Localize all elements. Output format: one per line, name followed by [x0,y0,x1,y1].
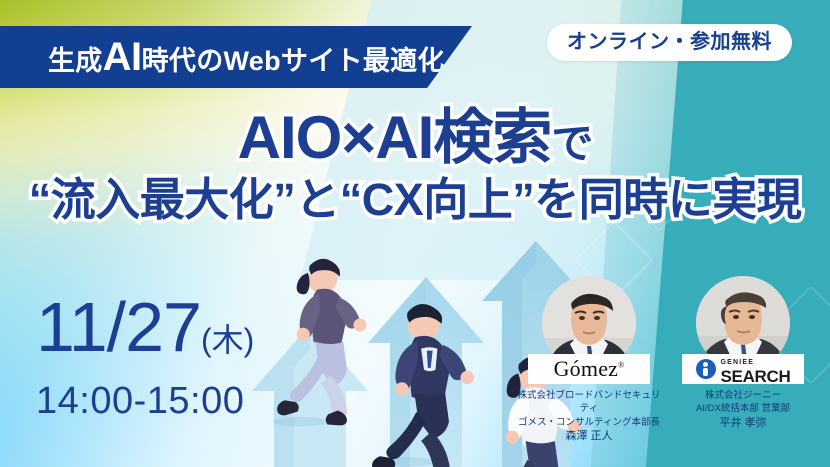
page-title: AIO×AI検索で “流入最大化”と“CX向上”を同時に実現 [0,108,830,222]
arrow-shape-1 [252,325,368,467]
speaker-organization: 株式会社ジーニー [670,389,816,402]
speaker-card: GENIEE SEARCH 株式会社ジーニー AI/DX統括本部 営業部 平井 … [670,276,816,445]
speaker-list: Gómez® 株式会社ブロードバンドセキュリティ ゴメス・コンサルティング本部長… [516,276,816,445]
headline-line-1: AIO×AI検索で [0,108,830,168]
geniee-search-logo-inner: GENIEE SEARCH [696,352,791,386]
speaker-role: AI/DX統括本部 営業部 [670,402,816,415]
gomez-logo-text: Gómez® [554,358,625,380]
speaker-meta: 株式会社ブロードバンドセキュリティ ゴメス・コンサルティング本部長 森澤 正人 [516,389,662,445]
event-schedule: 11/27(木) 14:00-15:00 [36,292,254,420]
geniee-logo-bottom-text: SEARCH [721,367,791,386]
speaker-name: 森澤 正人 [516,429,662,445]
event-date: 11/27(木) [36,292,254,362]
speaker-card: Gómez® 株式会社ブロードバンドセキュリティ ゴメス・コンサルティング本部長… [516,276,662,445]
ribbon-emphasis: AI [103,35,142,79]
geniee-wordmark: GENIEE SEARCH [721,352,791,386]
ribbon-prefix: 生成 [48,46,103,76]
webinar-poster: 生成AI時代のWebサイト最適化 オンライン・参加無料 AIO×AI検索で “流… [0,0,830,467]
geniee-circle-icon [696,359,716,379]
topic-ribbon: 生成AI時代のWebサイト最適化 [0,26,472,88]
ribbon-label: 生成AI時代のWebサイト最適化 [0,37,445,77]
free-online-badge: オンライン・参加無料 [547,24,792,61]
event-time: 14:00-15:00 [36,382,254,420]
geniee-logo-top-text: GENIEE [721,359,755,366]
event-day-of-week: (木) [201,322,254,358]
headline-line-2: “流入最大化”と“CX向上”を同時に実現 [0,177,830,222]
gomez-wordmark: Gómez [554,356,619,381]
gomez-logo: Gómez® [528,354,650,384]
event-date-number: 11/27 [36,288,201,366]
free-online-badge-label: オンライン・参加無料 [567,31,772,53]
speaker-role: ゴメス・コンサルティング本部長 [516,416,662,429]
speaker-name: 平井 孝弥 [670,416,816,432]
speaker-meta: 株式会社ジーニー AI/DX統括本部 営業部 平井 孝弥 [670,389,816,432]
headline-line-1-main: AIO×AI検索 [238,104,552,171]
ribbon-suffix: 時代のWebサイト最適化 [142,46,445,76]
headline-line-1-tail: で [551,120,592,167]
registered-trademark-icon: ® [618,361,624,370]
geniee-search-logo: GENIEE SEARCH [682,354,804,384]
speaker-organization: 株式会社ブロードバンドセキュリティ [516,389,662,416]
